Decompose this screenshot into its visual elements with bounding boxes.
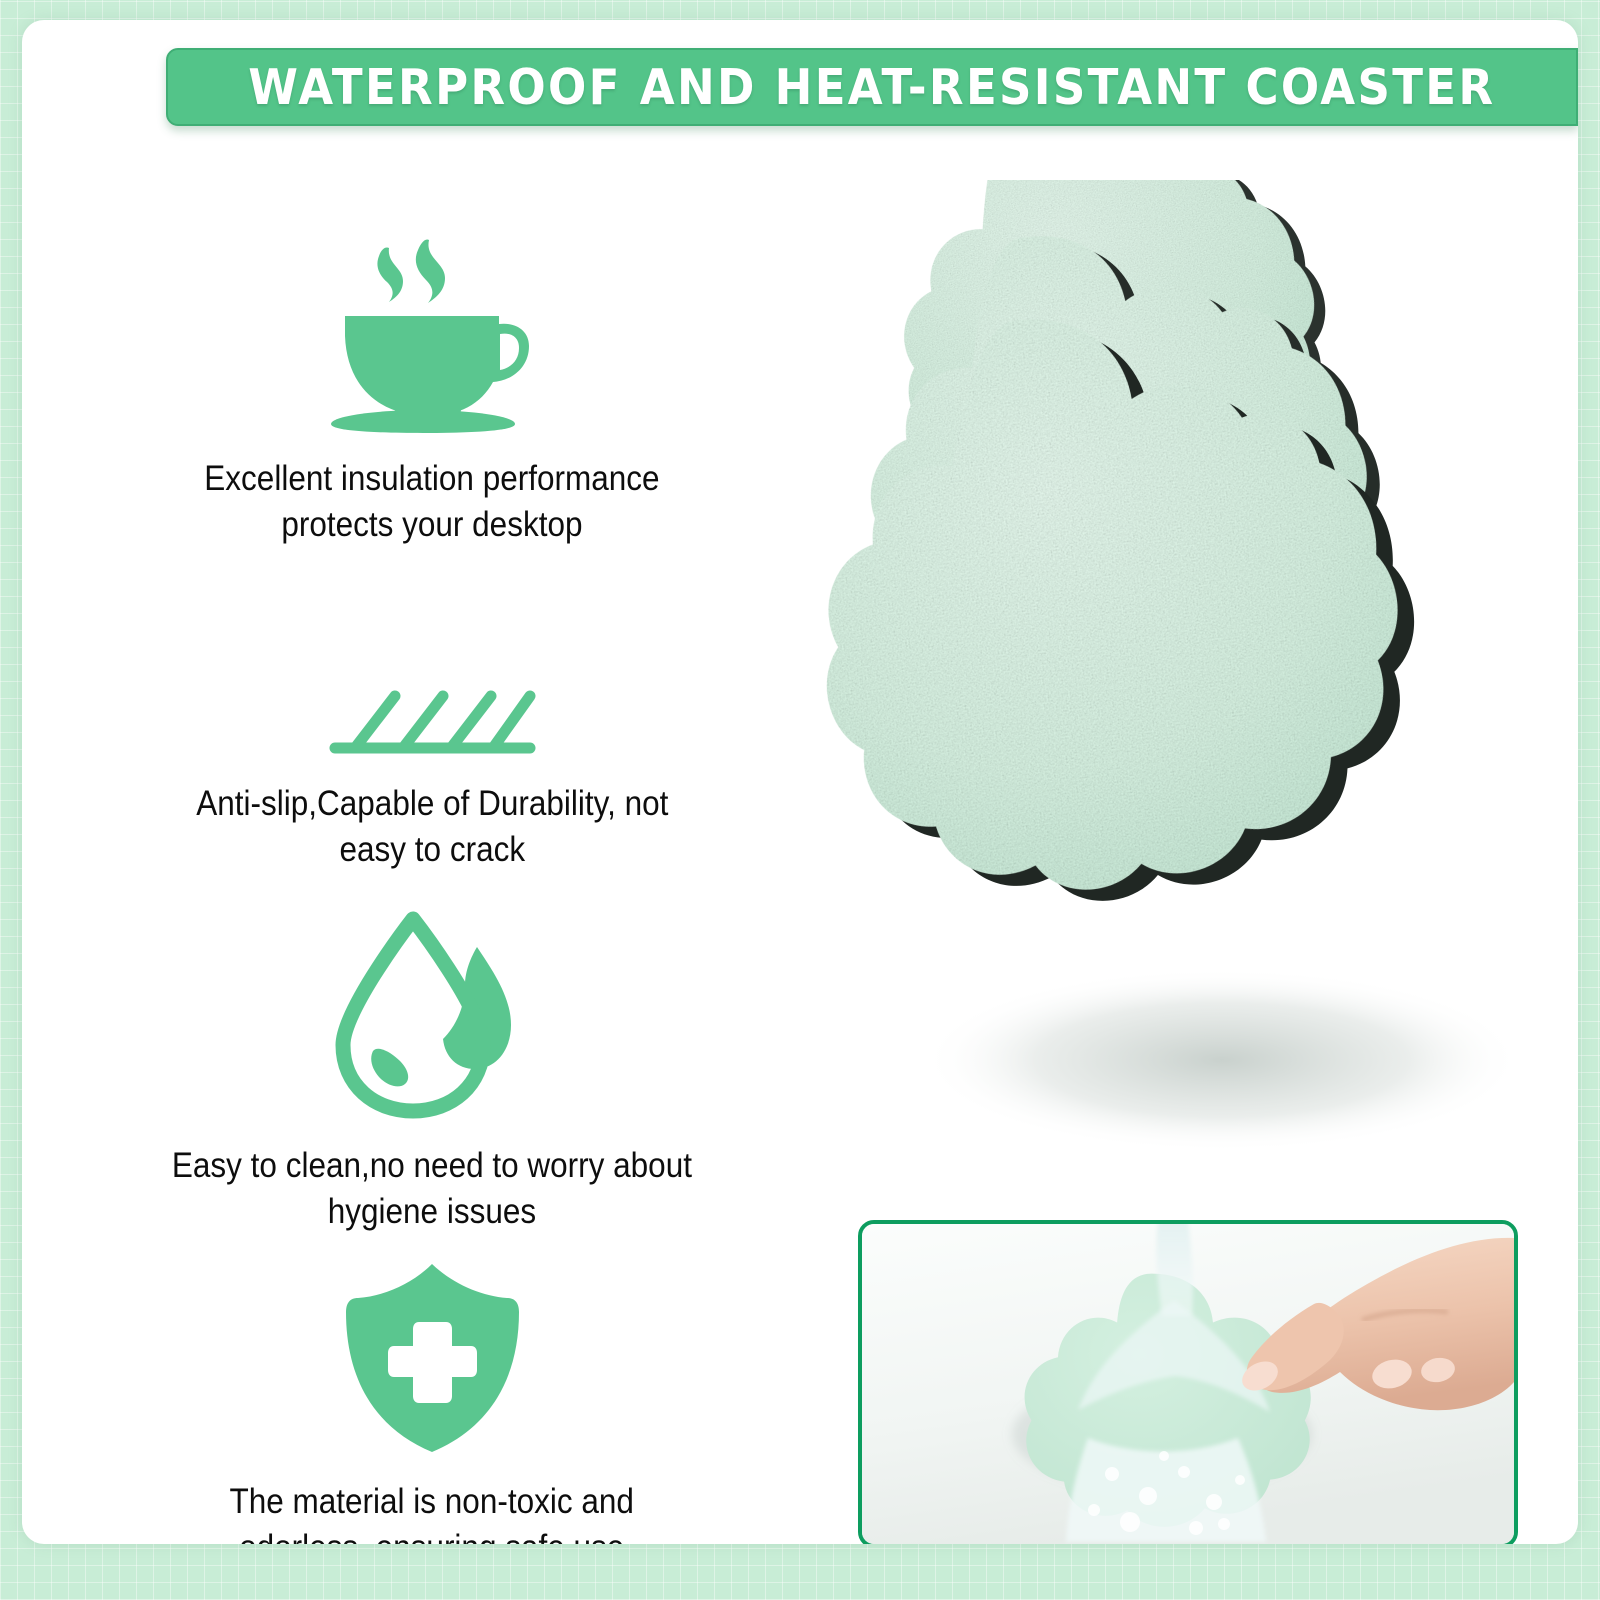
feature-item-anti-slip: Anti-slip,Capable of Durability, not eas… (72, 678, 792, 873)
feature-label: Anti-slip,Capable of Durability, not eas… (196, 781, 668, 873)
steaming-coffee-cup-icon (317, 218, 547, 438)
feature-item-easy-clean: Easy to clean,no need to worry about hyg… (72, 905, 792, 1235)
content-card: WATERPROOF AND HEAT-RESISTANT COASTER Ex… (22, 20, 1578, 1544)
feature-list: Excellent insulation performance protect… (72, 170, 792, 1544)
anti-slip-hatch-icon (325, 678, 540, 763)
feature-item-non-toxic: The material is non-toxic and odorless, … (72, 1260, 792, 1544)
feature-label: The material is non-toxic and odorless, … (230, 1479, 634, 1544)
feature-item-insulation: Excellent insulation performance protect… (72, 218, 792, 548)
shield-plus-icon (340, 1260, 525, 1461)
feature-label: Easy to clean,no need to worry about hyg… (172, 1143, 692, 1235)
header-banner: WATERPROOF AND HEAT-RESISTANT COASTER (166, 48, 1578, 126)
page-title: WATERPROOF AND HEAT-RESISTANT COASTER (248, 59, 1495, 116)
cloud-shaped-coaster-product-photo (822, 180, 1522, 1190)
water-droplet-icon (325, 905, 540, 1125)
infographic-page: WATERPROOF AND HEAT-RESISTANT COASTER Ex… (0, 0, 1600, 1600)
feature-label: Excellent insulation performance protect… (204, 456, 659, 548)
coaster-rinsed-under-running-water-photo (858, 1220, 1518, 1544)
